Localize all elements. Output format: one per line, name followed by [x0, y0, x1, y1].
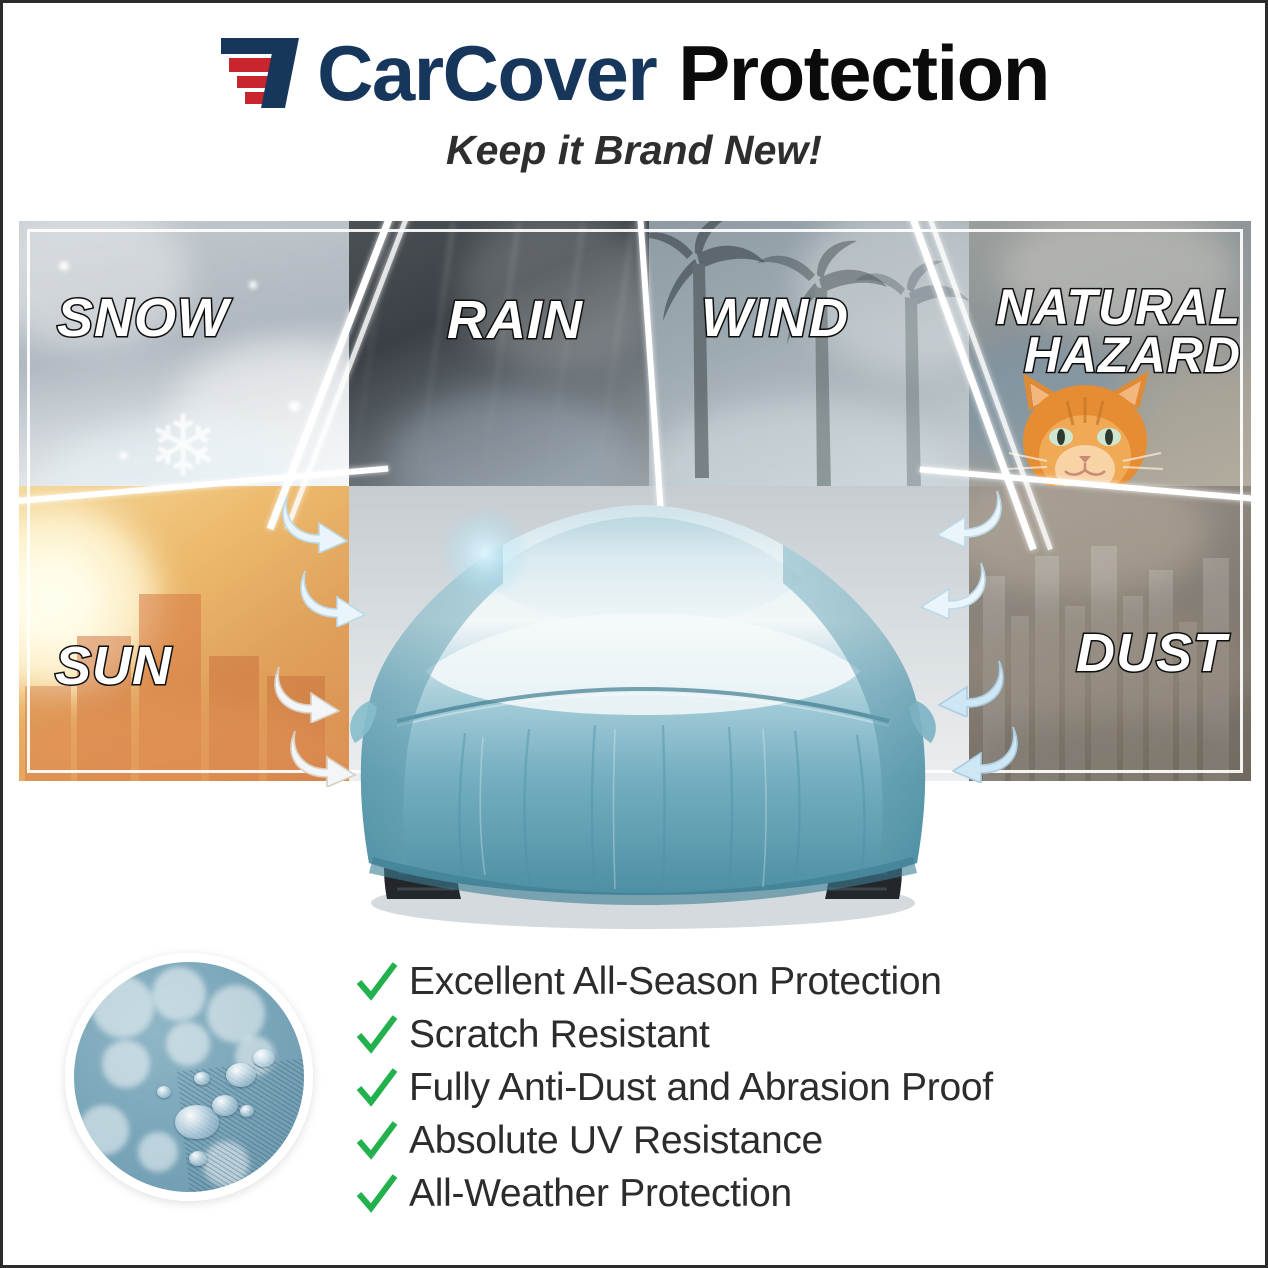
green-checkmark-icon [355, 1119, 399, 1163]
green-checkmark-icon [355, 960, 399, 1004]
deflect-arrow-icon [931, 485, 1009, 547]
feature-item: All-Weather Protection [355, 1167, 1175, 1220]
feature-label: Absolute UV Resistance [409, 1121, 823, 1160]
green-checkmark-icon [355, 1172, 399, 1216]
covered-car-illustration [333, 433, 953, 953]
feature-label: All-Weather Protection [409, 1174, 792, 1213]
green-checkmark-icon [355, 1013, 399, 1057]
icarcover-wing-logo-icon [219, 36, 311, 110]
header: CarCover Protection Keep it Brand New! [3, 25, 1265, 174]
brand-text: CarCover Protection [317, 34, 1049, 112]
deflect-arrow-icon [915, 557, 993, 619]
brand-lockup: CarCover Protection [3, 25, 1265, 121]
feature-label: Fully Anti-Dust and Abrasion Proof [409, 1068, 993, 1107]
feature-item: Fully Anti-Dust and Abrasion Proof [355, 1061, 1175, 1114]
green-checkmark-icon [355, 1066, 399, 1110]
water-beading-swatch-icon [65, 953, 313, 1201]
feature-item: Absolute UV Resistance [355, 1114, 1175, 1167]
feature-list: Excellent All-Season Protection Scratch … [355, 955, 1175, 1220]
feature-label: Excellent All-Season Protection [409, 962, 942, 1001]
feature-label: Scratch Resistant [409, 1015, 710, 1054]
feature-item: Scratch Resistant [355, 1008, 1175, 1061]
features-section: Excellent All-Season Protection Scratch … [3, 943, 1265, 1253]
snowflake-icon: ❄ [147, 397, 219, 486]
ad-page: CarCover Protection Keep it Brand New! ❄… [0, 0, 1268, 1268]
deflect-arrow-icon [947, 721, 1025, 783]
panel-label-rain: RAIN [447, 295, 583, 347]
panel-label-dust: DUST [1076, 628, 1227, 680]
deflect-arrow-icon [933, 655, 1011, 717]
covered-car [333, 433, 953, 953]
panel-label-snow: SNOW [57, 293, 229, 345]
panel-label-natural-hazard: NATURAL HAZARD [996, 283, 1241, 379]
brand-name: CarCover [317, 34, 656, 112]
deflect-arrow-icon [283, 725, 361, 787]
deflect-arrow-icon [275, 491, 353, 553]
brand-suffix: Protection [678, 34, 1049, 112]
deflect-arrow-icon [293, 565, 371, 627]
panel-label-sun: SUN [55, 641, 172, 693]
tagline: Keep it Brand New! [3, 127, 1265, 174]
panel-label-wind: WIND [701, 293, 849, 345]
deflect-arrow-icon [267, 661, 345, 723]
feature-item: Excellent All-Season Protection [355, 955, 1175, 1008]
